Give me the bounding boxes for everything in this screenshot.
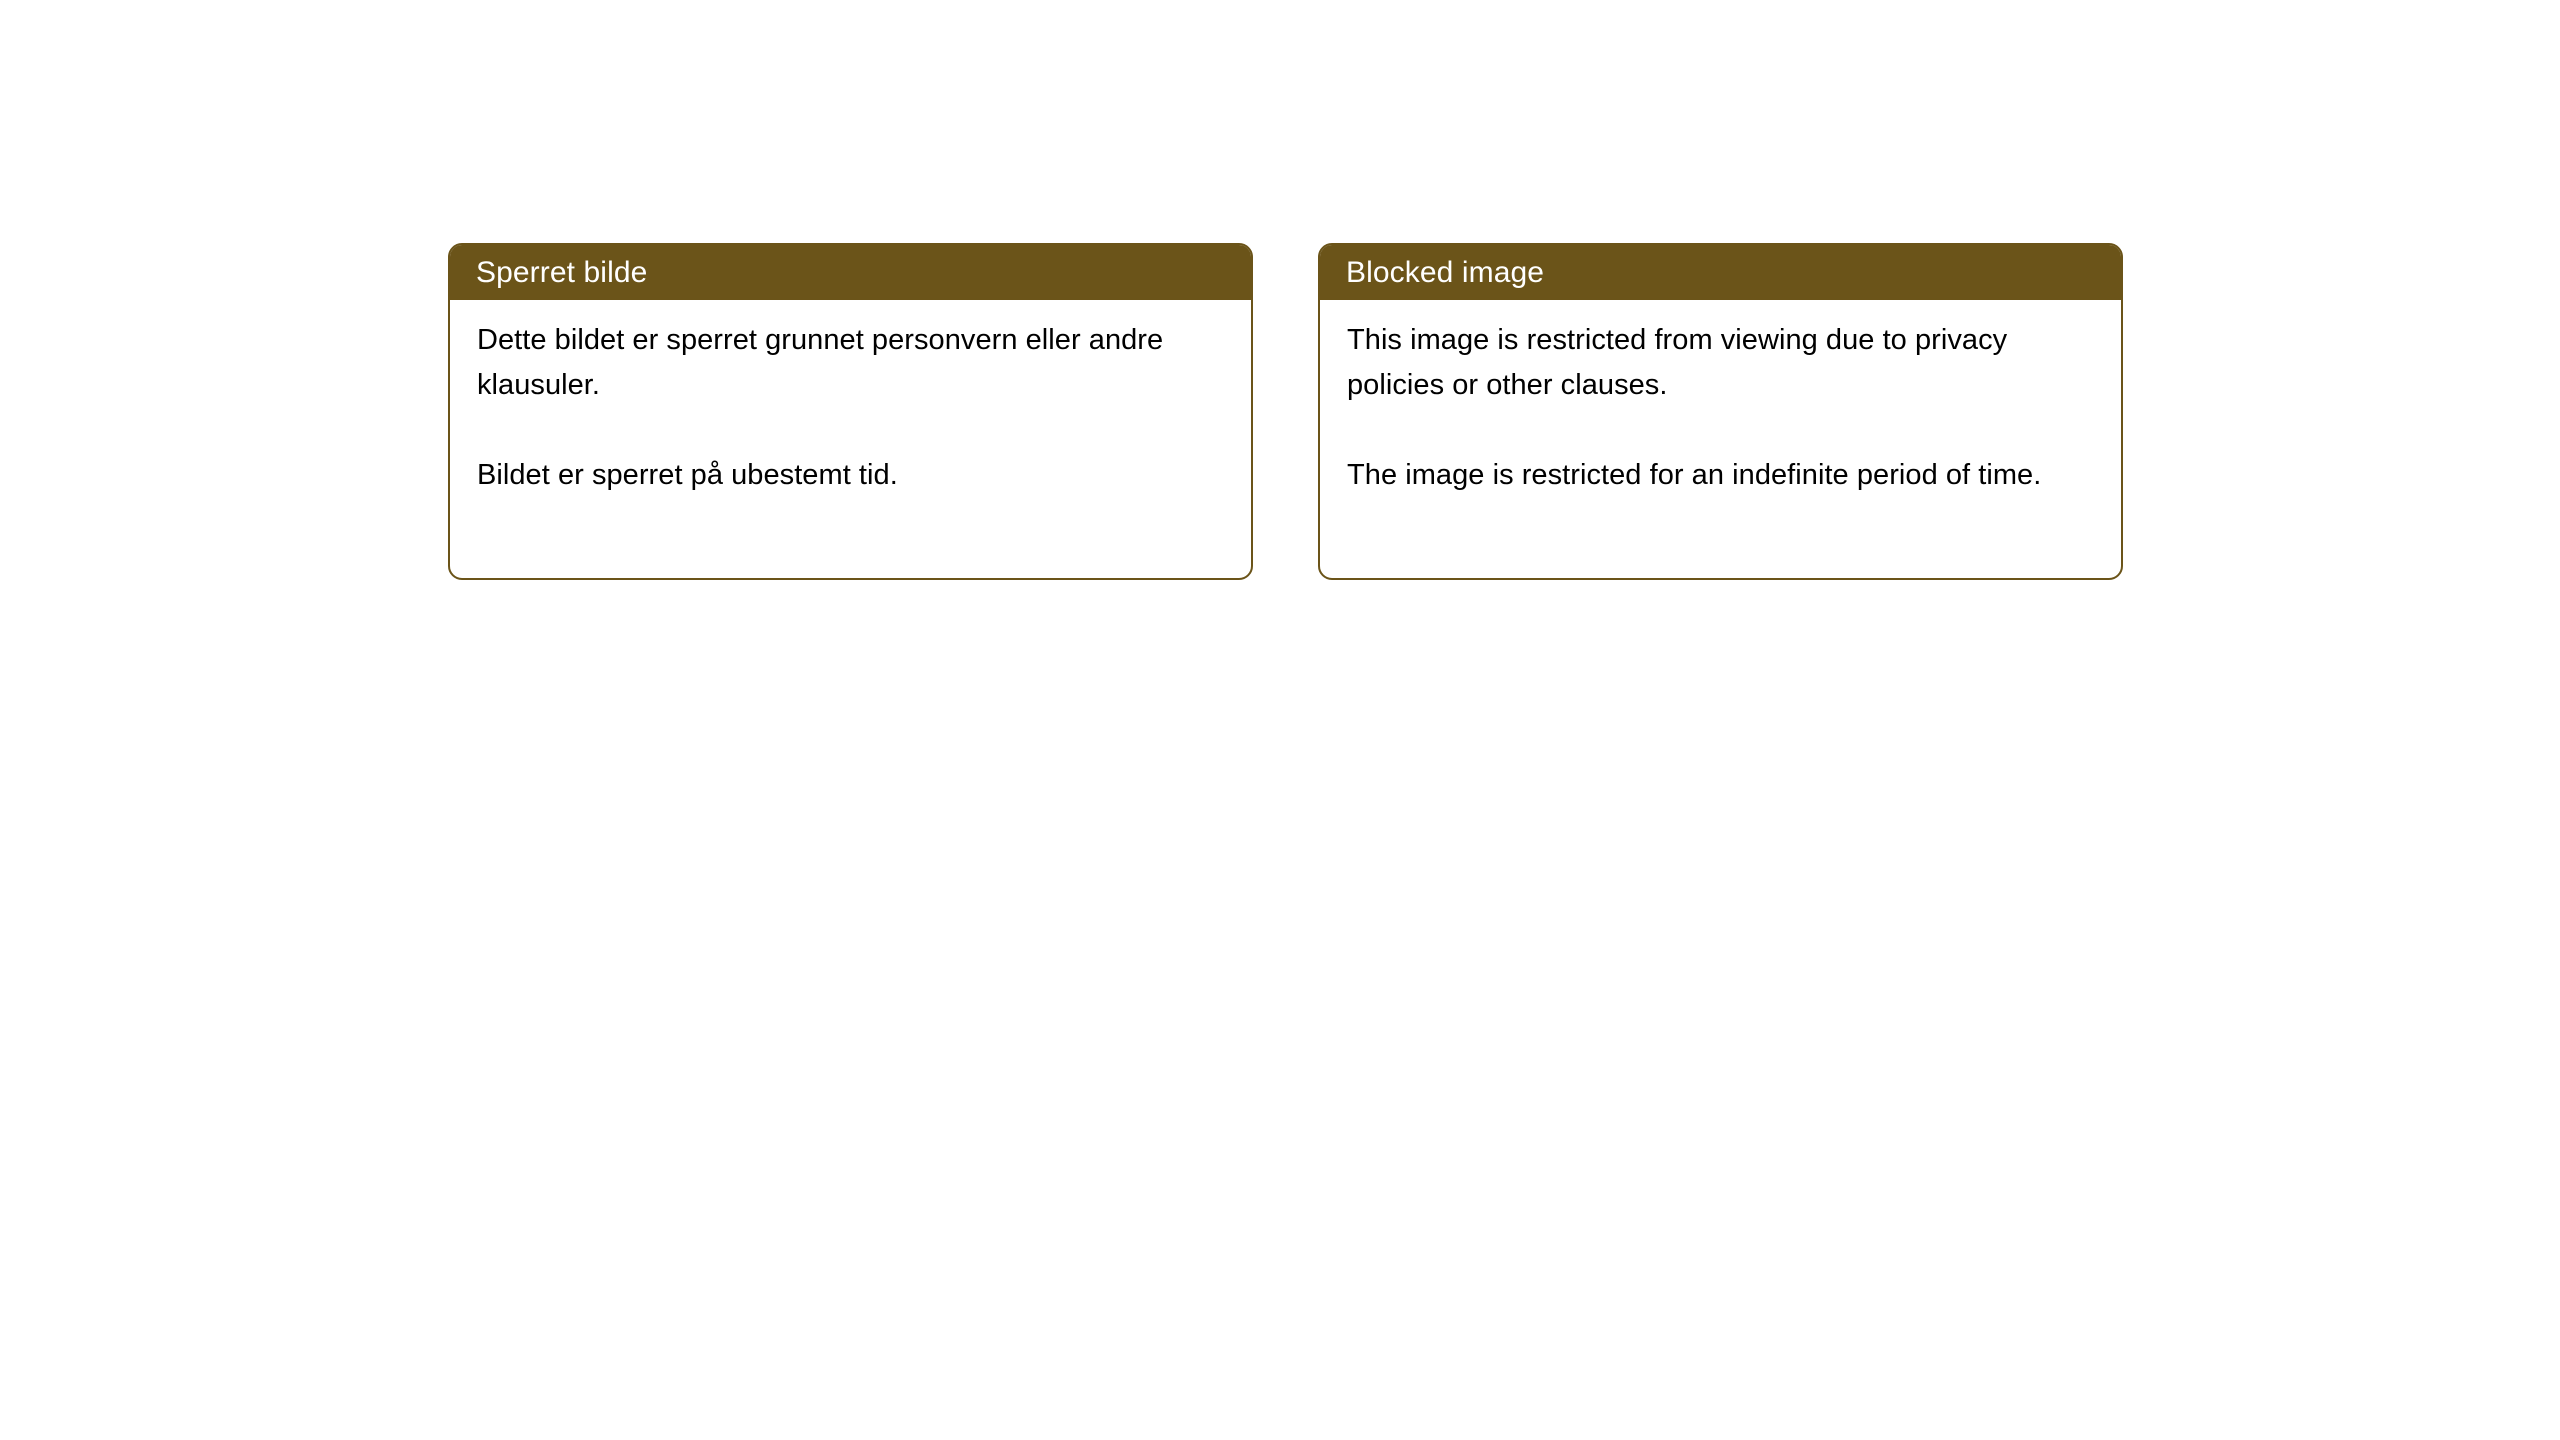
card-body-norwegian: Dette bildet er sperret grunnet personve… xyxy=(450,300,1251,498)
card-body-english: This image is restricted from viewing du… xyxy=(1320,300,2121,498)
card-header-norwegian: Sperret bilde xyxy=(450,245,1251,300)
page-canvas: Sperret bilde Dette bildet er sperret gr… xyxy=(0,0,2560,1440)
card-title-norwegian: Sperret bilde xyxy=(476,256,647,290)
card-title-english: Blocked image xyxy=(1346,256,1544,290)
card-paragraph-duration-english: The image is restricted for an indefinit… xyxy=(1347,453,2095,498)
card-header-english: Blocked image xyxy=(1320,245,2121,300)
card-paragraph-reason-norwegian: Dette bildet er sperret grunnet personve… xyxy=(477,318,1225,408)
blocked-image-notice-card-english: Blocked image This image is restricted f… xyxy=(1318,243,2123,580)
blocked-image-notice-card-norwegian: Sperret bilde Dette bildet er sperret gr… xyxy=(448,243,1253,580)
card-paragraph-reason-english: This image is restricted from viewing du… xyxy=(1347,318,2095,408)
card-paragraph-duration-norwegian: Bildet er sperret på ubestemt tid. xyxy=(477,453,1225,498)
